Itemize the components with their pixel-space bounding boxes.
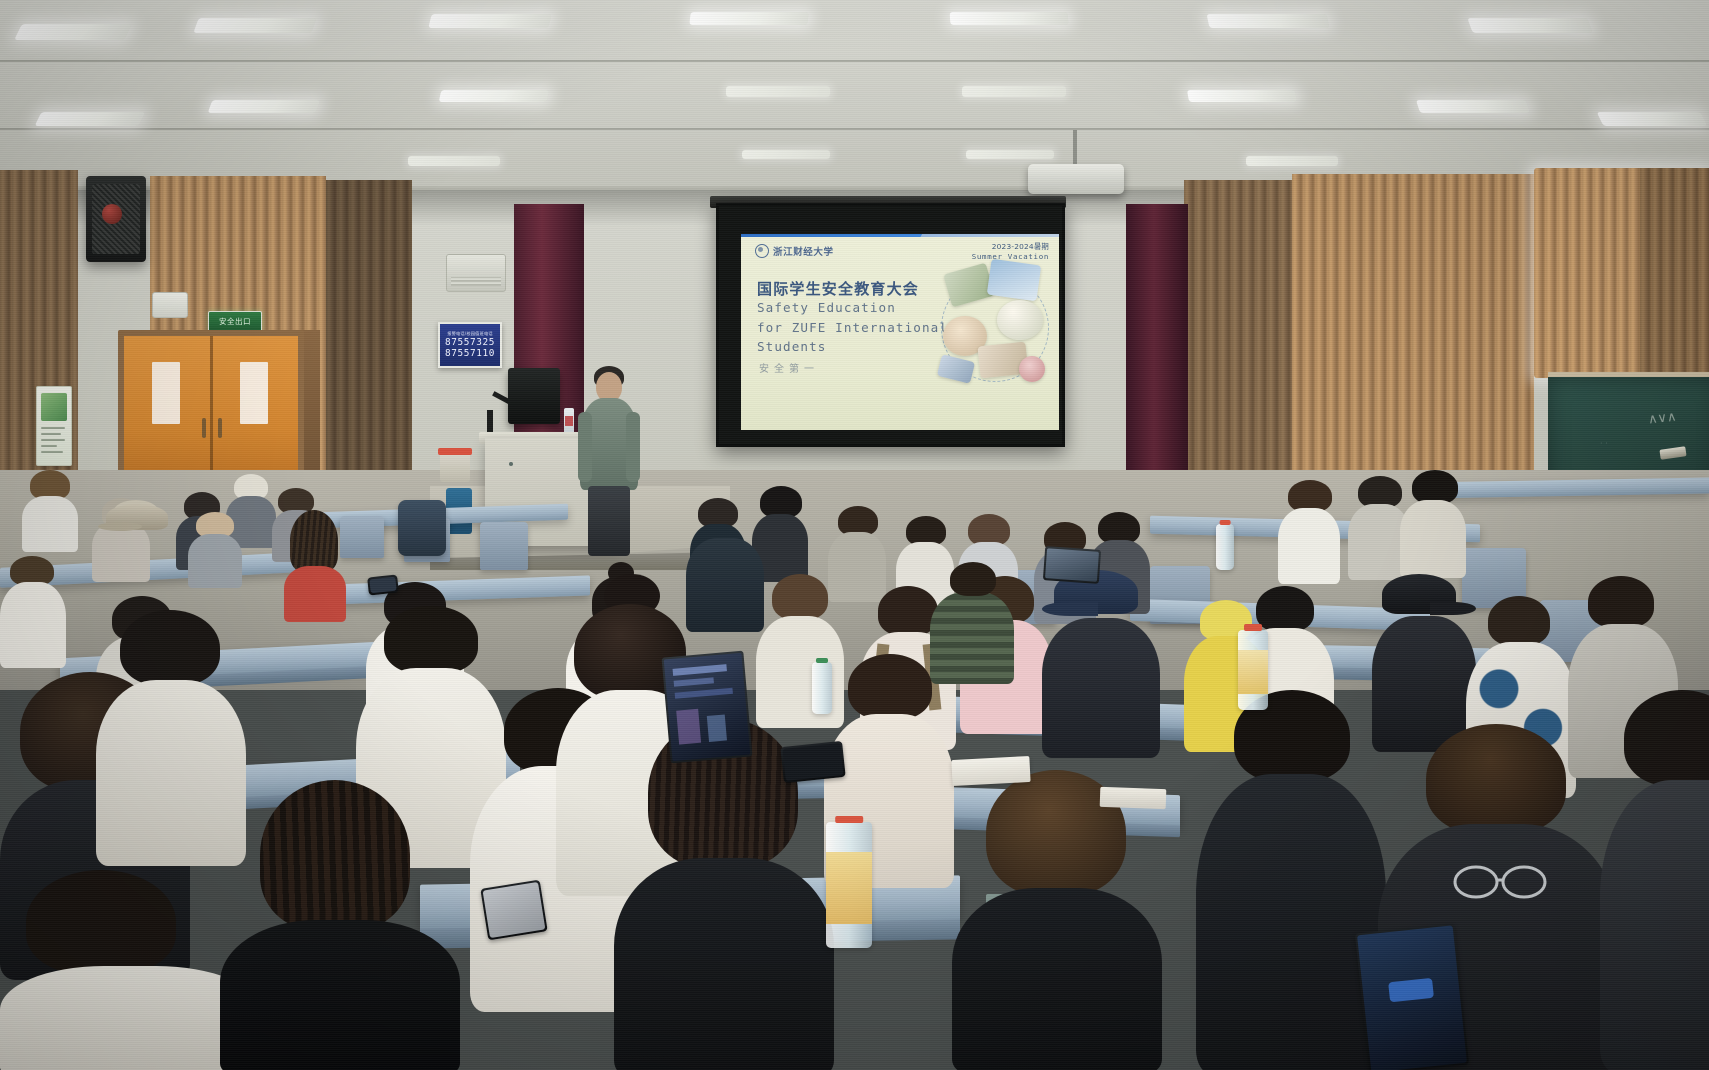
water-bottle <box>1216 524 1234 570</box>
slide-title-cn: 国际学生安全教育大会 <box>757 278 919 299</box>
ceiling-light <box>35 112 146 126</box>
audience-member <box>284 510 346 620</box>
slide-collage-artwork <box>933 260 1057 400</box>
air-conditioner <box>446 254 506 292</box>
slide-subtitle: 安全第一 <box>759 360 819 375</box>
smartphone-on-desk[interactable] <box>480 880 547 941</box>
slide-title-en: Safety Education for ZUFE International … <box>757 298 948 357</box>
wood-panel <box>1184 180 1292 496</box>
audience-member <box>1196 690 1386 1070</box>
backpack <box>398 500 446 556</box>
ceiling-light <box>439 90 550 102</box>
ceiling-light <box>1597 112 1708 126</box>
projector-mount <box>1073 130 1077 166</box>
entrance-door[interactable] <box>124 336 298 492</box>
audience-member <box>1600 690 1709 1070</box>
ceiling-light <box>1467 18 1592 33</box>
projection-screen: 浙江财经大学 2023-2024暑期 Summer Vacation 国际学生安… <box>716 203 1065 447</box>
ceiling-light <box>428 14 551 28</box>
wall-poster <box>36 386 72 466</box>
lecture-hall-photo: 安全出口 报警电话/校园值班电话 87557325 87557110 ∧∨∧ ·… <box>0 0 1709 1070</box>
audience-member <box>220 780 460 1070</box>
smartphone-on-desk[interactable] <box>367 574 399 595</box>
water-bottle <box>1238 630 1268 710</box>
emergency-phone-sign: 报警电话/校园值班电话 87557325 87557110 <box>438 322 502 368</box>
presenter <box>578 366 642 556</box>
chair <box>480 522 528 570</box>
ceiling-light <box>1416 100 1530 113</box>
ceiling-light <box>966 150 1054 159</box>
ceiling-light <box>689 12 808 25</box>
university-crest-icon <box>755 244 769 258</box>
water-bottle <box>812 662 832 714</box>
ceiling-light <box>962 86 1066 97</box>
notebook-on-desk <box>1100 787 1167 809</box>
smartphone-on-desk[interactable] <box>780 741 845 783</box>
emergency-phone-1: 87557325 <box>445 338 495 348</box>
wall-control-box <box>152 292 188 318</box>
water-bottle <box>826 822 872 948</box>
chair <box>340 516 384 558</box>
smartphone-in-hand[interactable] <box>1355 923 1469 1070</box>
presentation-slide: 浙江财经大学 2023-2024暑期 Summer Vacation 国际学生安… <box>741 234 1059 430</box>
wall-speaker <box>86 176 146 262</box>
emergency-sign-caption: 报警电话/校园值班电话 <box>447 331 493 337</box>
ceiling-light <box>408 156 500 166</box>
exit-sign-label: 安全出口 <box>219 316 251 327</box>
slide-date-cn: 2023-2024暑期 <box>972 242 1049 252</box>
ceiling-light <box>726 86 830 97</box>
exit-sign: 安全出口 <box>208 311 262 332</box>
eyeglasses <box>1452 862 1548 902</box>
projector <box>1028 164 1124 194</box>
ceiling-light <box>193 18 316 33</box>
university-logo: 浙江财经大学 <box>755 244 834 258</box>
ceiling-light <box>1246 156 1338 166</box>
ceiling-light <box>950 12 1069 25</box>
university-logo-text: 浙江财经大学 <box>773 244 834 258</box>
audience-member <box>0 556 66 666</box>
wood-panel <box>1292 174 1534 500</box>
slide-title-en-line3: Students <box>757 337 948 357</box>
ceiling-light <box>1207 14 1330 28</box>
tablet-on-desk[interactable] <box>662 651 753 764</box>
audience-member-with-cap <box>1372 570 1476 750</box>
audience-member <box>1278 480 1340 580</box>
ceiling-light <box>1187 90 1297 102</box>
notebook-on-desk <box>951 756 1030 786</box>
podium-monitor <box>508 368 560 424</box>
audience-member-with-cap <box>104 498 174 538</box>
laptop-on-desk[interactable] <box>1043 546 1101 584</box>
ceiling-light <box>14 24 132 40</box>
wood-panel <box>326 180 412 498</box>
audience-member-with-cap <box>1042 566 1160 756</box>
audience-member <box>22 470 78 550</box>
audience-member <box>188 512 242 586</box>
ceiling-light <box>208 100 321 113</box>
ceiling-light <box>742 150 830 159</box>
stage-curtain-right <box>1126 204 1188 490</box>
audience-member <box>952 770 1162 1070</box>
slide-title-en-line1: Safety Education <box>757 298 948 318</box>
slide-title-en-line2: for ZUFE International <box>757 318 948 338</box>
emergency-phone-2: 87557110 <box>445 349 495 359</box>
slide-date-block: 2023-2024暑期 Summer Vacation <box>972 242 1049 262</box>
audience-member <box>1400 470 1466 574</box>
waste-bin <box>440 452 470 482</box>
